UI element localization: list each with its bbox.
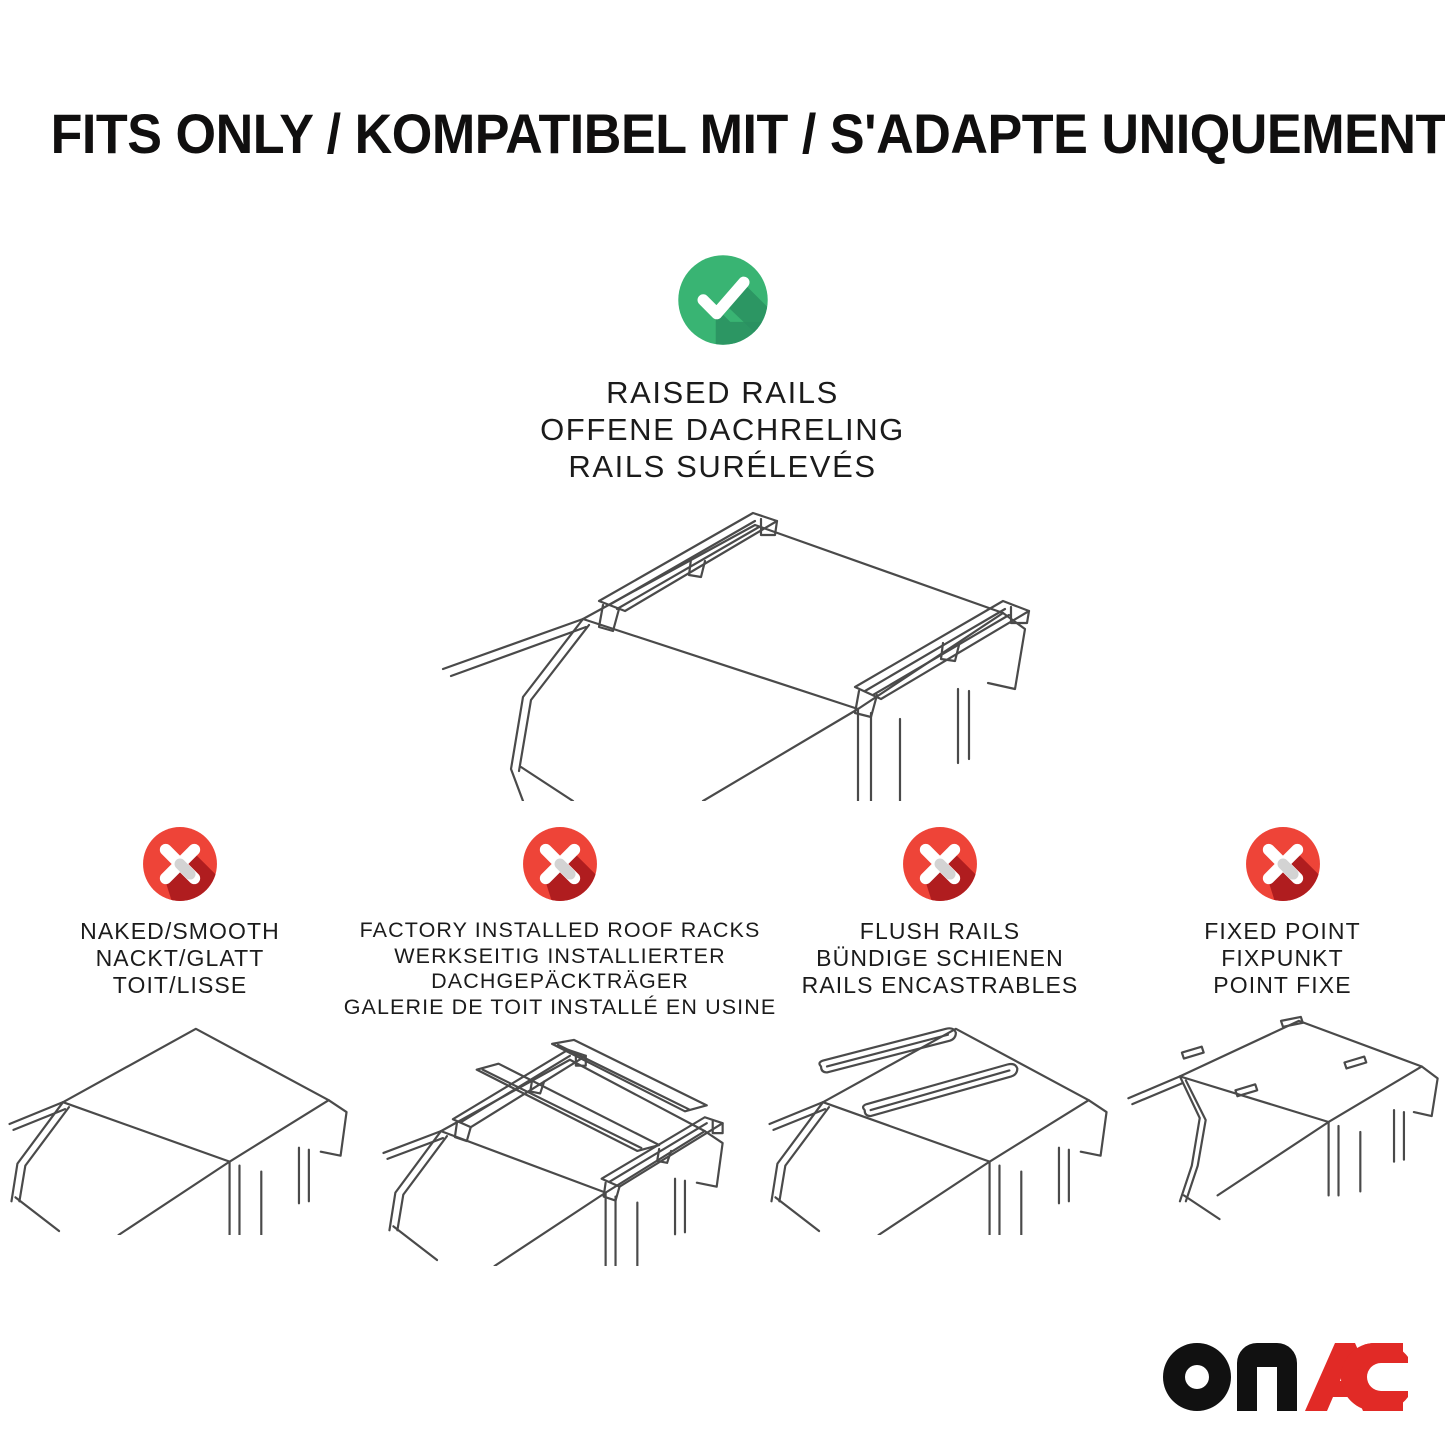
x-circle-icon — [518, 822, 602, 906]
incompatible-option-fixed-point: FIXED POINT FIXPUNKT POINT FIXE — [1120, 822, 1445, 1240]
x-circle-icon — [898, 822, 982, 906]
incompatible-section: NAKED/SMOOTH NACKT/GLATT TOIT/LISSE — [0, 822, 1445, 1271]
incompatible-option-factory-roof-racks: FACTORY INSTALLED ROOF RACKS WERKSEITIG … — [360, 822, 760, 1271]
car-roof-with-raised-rails-illustration — [403, 501, 1043, 801]
option-label-fr: RAILS ENCASTRABLES — [802, 972, 1079, 999]
option-label-de-2: DACHGEPÄCKTRÄGER — [344, 969, 777, 995]
option-labels: FIXED POINT FIXPUNKT POINT FIXE — [1204, 918, 1361, 999]
option-label-fr: GALERIE DE TOIT INSTALLÉ EN USINE — [344, 995, 777, 1021]
compatible-labels: RAISED RAILS OFFENE DACHRELING RAILS SUR… — [540, 374, 905, 485]
car-roof-bare-illustration — [1, 1007, 359, 1240]
fitment-compatibility-infographic: FITS ONLY / KOMPATIBEL MIT / S'ADAPTE UN… — [0, 0, 1445, 1445]
option-label-en: FLUSH RAILS — [802, 918, 1079, 945]
compatible-section: RAISED RAILS OFFENE DACHRELING RAILS SUR… — [0, 248, 1445, 801]
incompatible-option-naked-smooth: NAKED/SMOOTH NACKT/GLATT TOIT/LISSE — [0, 822, 360, 1240]
option-label-en: FIXED POINT — [1204, 918, 1361, 945]
option-label-en: NAKED/SMOOTH — [80, 918, 280, 945]
option-label-de: FIXPUNKT — [1204, 945, 1361, 972]
x-circle-icon — [138, 822, 222, 906]
omac-logo — [1159, 1339, 1409, 1423]
option-label-fr: TOIT/LISSE — [80, 972, 280, 999]
option-label-de-1: WERKSEITIG INSTALLIERTER — [344, 944, 777, 970]
option-label-fr: POINT FIXE — [1204, 972, 1361, 999]
option-label-en: FACTORY INSTALLED ROOF RACKS — [344, 918, 777, 944]
x-circle-icon — [1241, 822, 1325, 906]
option-labels: FACTORY INSTALLED ROOF RACKS WERKSEITIG … — [344, 918, 777, 1020]
compatible-label-de: OFFENE DACHRELING — [540, 411, 905, 448]
option-label-de: BÜNDIGE SCHIENEN — [802, 945, 1079, 972]
car-roof-with-fixed-points-illustration — [1124, 1007, 1442, 1240]
option-labels: FLUSH RAILS BÜNDIGE SCHIENEN RAILS ENCAS… — [802, 918, 1079, 999]
option-label-de: NACKT/GLATT — [80, 945, 280, 972]
option-labels: NAKED/SMOOTH NACKT/GLATT TOIT/LISSE — [80, 918, 280, 999]
incompatible-option-flush-rails: FLUSH RAILS BÜNDIGE SCHIENEN RAILS ENCAS… — [760, 822, 1120, 1240]
car-roof-with-factory-crossbars-illustration — [371, 1028, 749, 1271]
page-title: FITS ONLY / KOMPATIBEL MIT / S'ADAPTE UN… — [51, 103, 1395, 165]
car-roof-with-flush-rails-illustration — [761, 1007, 1119, 1240]
compatible-label-fr: RAILS SURÉLEVÉS — [540, 448, 905, 485]
compatible-label-en: RAISED RAILS — [540, 374, 905, 411]
check-circle-icon — [671, 248, 775, 352]
